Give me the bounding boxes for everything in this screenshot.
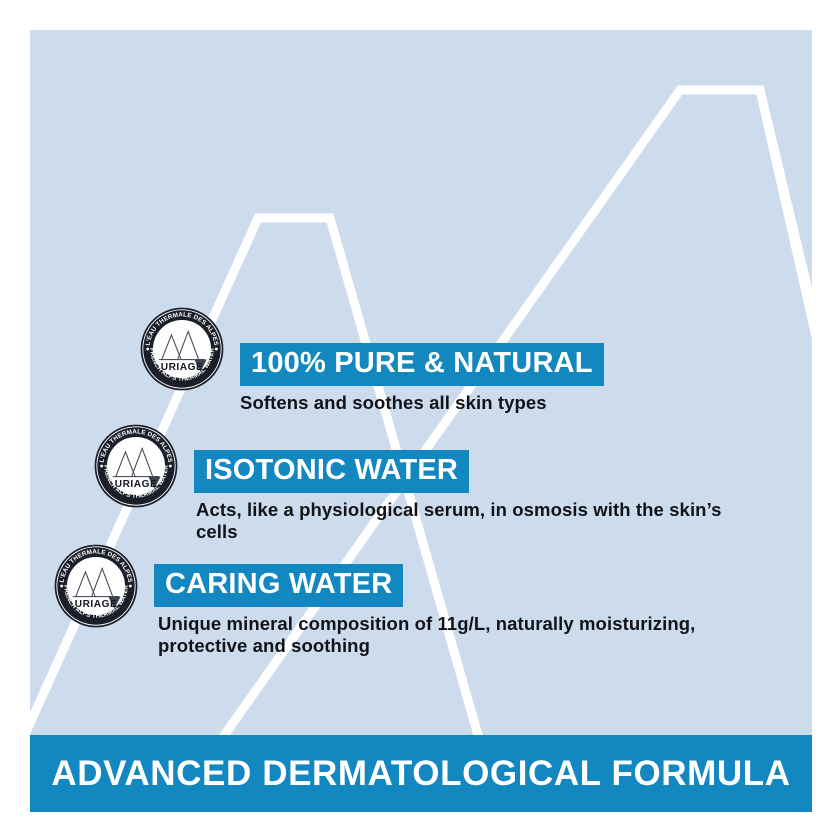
feature-block-isotonic-water: L'EAU THERMALE DES ALPES FRENCH ALPS THE…: [92, 422, 741, 543]
feature-text-group: ISOTONIC WATER Acts, like a physiologica…: [194, 422, 741, 543]
svg-text:URIAGE: URIAGE: [75, 599, 118, 610]
svg-text:URIAGE: URIAGE: [161, 362, 204, 373]
feature-text-group: CARING WATER Unique mineral composition …: [154, 542, 758, 657]
promo-graphic: L'EAU THERMALE DES ALPES FRENCH ALPS THE…: [0, 0, 840, 840]
bottom-banner: ADVANCED DERMATOLOGICAL FORMULA: [30, 735, 812, 812]
feature-headline: CARING WATER: [154, 564, 403, 607]
feature-block-pure-natural: L'EAU THERMALE DES ALPES FRENCH ALPS THE…: [138, 305, 604, 414]
banner-title: ADVANCED DERMATOLOGICAL FORMULA: [51, 754, 790, 794]
svg-text:URIAGE: URIAGE: [115, 479, 158, 490]
uriage-seal-icon: L'EAU THERMALE DES ALPES FRENCH ALPS THE…: [92, 422, 180, 510]
uriage-seal-icon: L'EAU THERMALE DES ALPES FRENCH ALPS THE…: [52, 542, 140, 630]
uriage-seal-icon: L'EAU THERMALE DES ALPES FRENCH ALPS THE…: [138, 305, 226, 393]
feature-block-caring-water: L'EAU THERMALE DES ALPES FRENCH ALPS THE…: [52, 542, 758, 657]
feature-headline: ISOTONIC WATER: [194, 450, 469, 493]
feature-text-group: 100% PURE & NATURAL Softens and soothes …: [240, 305, 604, 414]
feature-subline: Unique mineral composition of 11g/L, nat…: [158, 613, 758, 657]
feature-subline: Acts, like a physiological serum, in osm…: [196, 499, 741, 543]
feature-subline: Softens and soothes all skin types: [240, 392, 604, 414]
feature-headline: 100% PURE & NATURAL: [240, 343, 604, 386]
